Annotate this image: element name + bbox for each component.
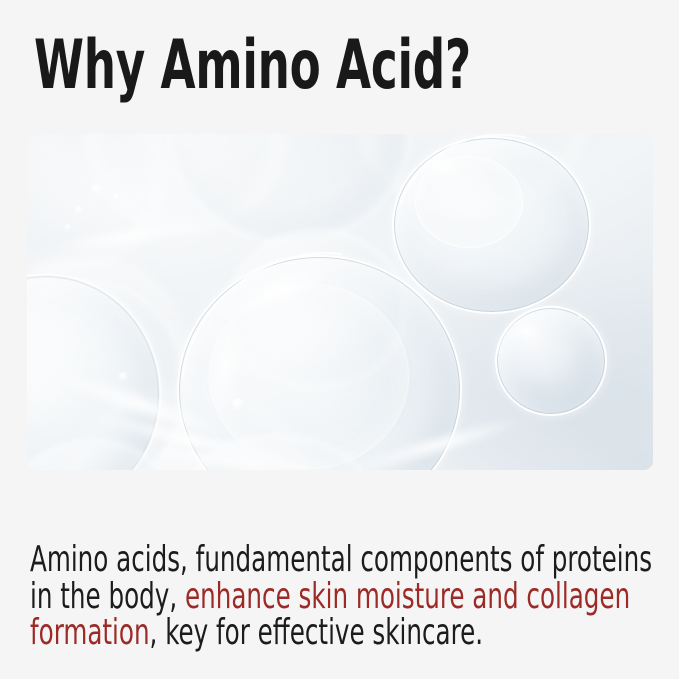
page-title: Why Amino Acid? [34,28,493,104]
droplet-3 [65,224,71,230]
infographic-page: Why Amino Acid? [0,0,679,679]
droplet-2 [75,206,83,214]
body-text-part-2: , key for effective skincare. [150,612,483,653]
droplet-5 [119,372,128,381]
droplet-1 [91,184,102,195]
droplet-4 [113,194,119,200]
body-paragraph: Amino acids, fundamental components of p… [30,542,665,652]
bubbles-gel-texture-photo [27,134,653,470]
